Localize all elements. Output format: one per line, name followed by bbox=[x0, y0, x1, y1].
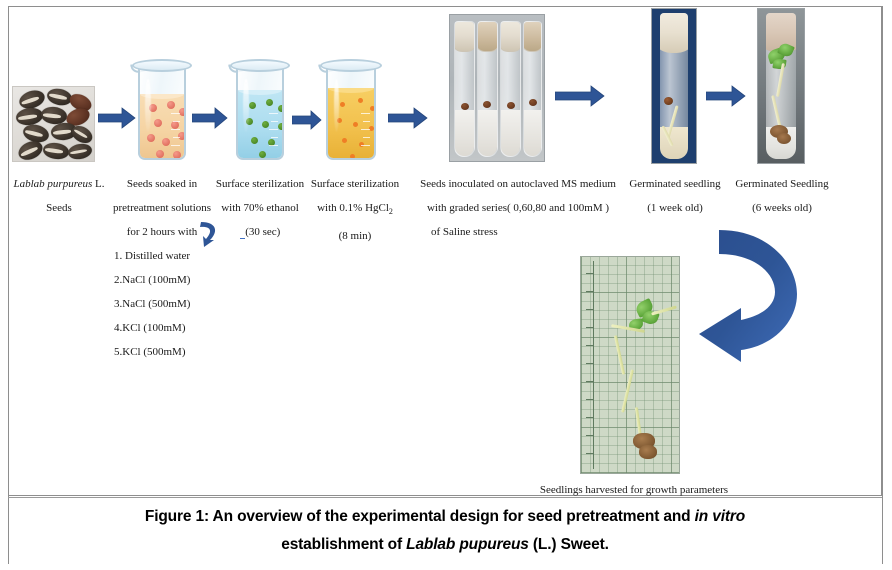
harvest-label: Seedlings harvested for growth parameter… bbox=[500, 478, 768, 502]
ms-medium bbox=[455, 110, 474, 156]
harvest-caption: Seedlings harvested for growth parameter… bbox=[500, 478, 768, 502]
beaker-rim bbox=[132, 59, 192, 72]
culture-tube bbox=[660, 13, 688, 159]
pretreatment-beaker bbox=[130, 50, 194, 162]
seedling-1week-age: (1 week old) bbox=[615, 196, 735, 220]
beaker-glass bbox=[138, 64, 186, 160]
test-tube-rack-photo bbox=[449, 14, 545, 162]
figure-page: Lablab purpureus L. Seeds bbox=[0, 0, 892, 570]
caption-in-vitro: in vitro bbox=[695, 508, 745, 525]
beaker-glass bbox=[326, 64, 376, 160]
culture-tube bbox=[454, 21, 475, 157]
cotton-plug bbox=[660, 13, 688, 53]
caption-line-2: establishment of Lablab pupureus (L.) Sw… bbox=[281, 536, 609, 553]
harvest-curved-arrow-icon bbox=[693, 222, 813, 362]
ms-medium bbox=[524, 110, 541, 156]
beaker-highlight bbox=[145, 79, 150, 132]
hgcl2-sterilization-beaker bbox=[318, 50, 384, 162]
caption-line-2-prefix: establishment of bbox=[281, 536, 406, 553]
ms-medium bbox=[501, 110, 520, 156]
caption-line-2-suffix: (L.) Sweet. bbox=[529, 536, 609, 553]
inoculation-line-2: with graded series( 0,60,80 and 100mM ) bbox=[413, 196, 623, 220]
stem bbox=[771, 95, 782, 129]
step-caption-inoculation: Seeds inoculated on autoclaved MS medium… bbox=[413, 172, 623, 244]
solution-item-2: 2.NaCl (100mM) bbox=[114, 268, 234, 292]
flow-arrow-4-icon bbox=[388, 106, 428, 130]
hgcl2-duration: (8 min) bbox=[292, 224, 418, 248]
caption-line-1: Figure 1: An overview of the experimenta… bbox=[145, 508, 745, 525]
beaker-rim bbox=[230, 59, 290, 72]
cotton-plug bbox=[523, 21, 542, 52]
six-week-seedling-photo bbox=[757, 8, 805, 164]
cotton-plug bbox=[454, 21, 475, 52]
inoculation-line-1: Seeds inoculated on autoclaved MS medium bbox=[413, 172, 623, 196]
cotton-plug bbox=[477, 21, 498, 52]
beaker-rim bbox=[320, 59, 382, 72]
species-name: Lablab purpureus bbox=[14, 178, 93, 190]
one-week-seedling-photo bbox=[651, 8, 697, 164]
beaker-graduations bbox=[356, 104, 370, 150]
caption-line-1-text: Figure 1: An overview of the experimenta… bbox=[145, 508, 695, 525]
solution-item-3: 3.NaCl (500mM) bbox=[114, 292, 234, 316]
pretreatment-solution-list: 1. Distilled water 2.NaCl (100mM) 3.NaCl… bbox=[114, 244, 234, 364]
beaker-graduations bbox=[166, 104, 180, 150]
inoculated-seed bbox=[461, 103, 469, 110]
culture-tube bbox=[766, 13, 795, 159]
ruler-scale bbox=[593, 261, 594, 469]
culture-tube bbox=[523, 21, 542, 157]
beaker-highlight bbox=[334, 79, 340, 132]
flow-arrow-2-icon bbox=[192, 106, 228, 130]
hgcl2-line-1: Surface sterilization bbox=[292, 172, 418, 196]
culture-tube bbox=[500, 21, 521, 157]
beaker-highlight bbox=[243, 79, 248, 132]
ms-medium bbox=[478, 110, 497, 156]
flow-arrow-5-icon bbox=[555, 84, 605, 108]
root-mass bbox=[639, 445, 657, 459]
right-rule bbox=[882, 6, 883, 564]
step-caption-seedling-1week: Germinated seedling (1 week old) bbox=[615, 172, 735, 220]
beaker-glass bbox=[236, 64, 284, 160]
figure-caption: Figure 1: An overview of the experimenta… bbox=[20, 503, 870, 559]
solution-item-4: 4.KCl (100mM) bbox=[114, 316, 234, 340]
ethanol-duration: (30 sec) bbox=[245, 226, 280, 238]
seedling-1week-line-1: Germinated seedling bbox=[615, 172, 735, 196]
step-caption-seedling-6week: Germinated Seedling (6 weeks old) bbox=[721, 172, 843, 220]
cotton-plug bbox=[500, 21, 521, 52]
flow-arrow-6-icon bbox=[706, 84, 746, 108]
culture-tube bbox=[477, 21, 498, 157]
hgcl2-reagent: with 0.1% HgCl bbox=[317, 202, 389, 214]
germinating-seed bbox=[664, 97, 673, 105]
step-caption-hgcl2: Surface sterilization with 0.1% HgCl2 (8… bbox=[292, 172, 418, 248]
graph-paper-grid bbox=[581, 257, 679, 473]
ethanol-sterilization-beaker bbox=[228, 50, 292, 162]
caption-species-name: Lablab pupureus bbox=[406, 536, 529, 553]
harvested-seedling-photo bbox=[580, 256, 680, 474]
left-rule bbox=[8, 6, 9, 564]
beaker-graduations bbox=[264, 104, 278, 150]
seedling-6week-line-1: Germinated Seedling bbox=[721, 172, 843, 196]
seedling-6week-age: (6 weeks old) bbox=[721, 196, 843, 220]
inoculation-line-3: of Saline stress bbox=[413, 220, 623, 244]
lablab-seeds-photo bbox=[12, 86, 95, 162]
inoculated-seed bbox=[507, 102, 515, 109]
hgcl2-line-2: with 0.1% HgCl2 bbox=[292, 196, 418, 224]
inoculated-seed bbox=[483, 101, 491, 108]
inoculated-seed bbox=[529, 99, 537, 106]
hgcl2-subscript: 2 bbox=[389, 207, 393, 216]
solution-item-5: 5.KCl (500mM) bbox=[114, 340, 234, 364]
